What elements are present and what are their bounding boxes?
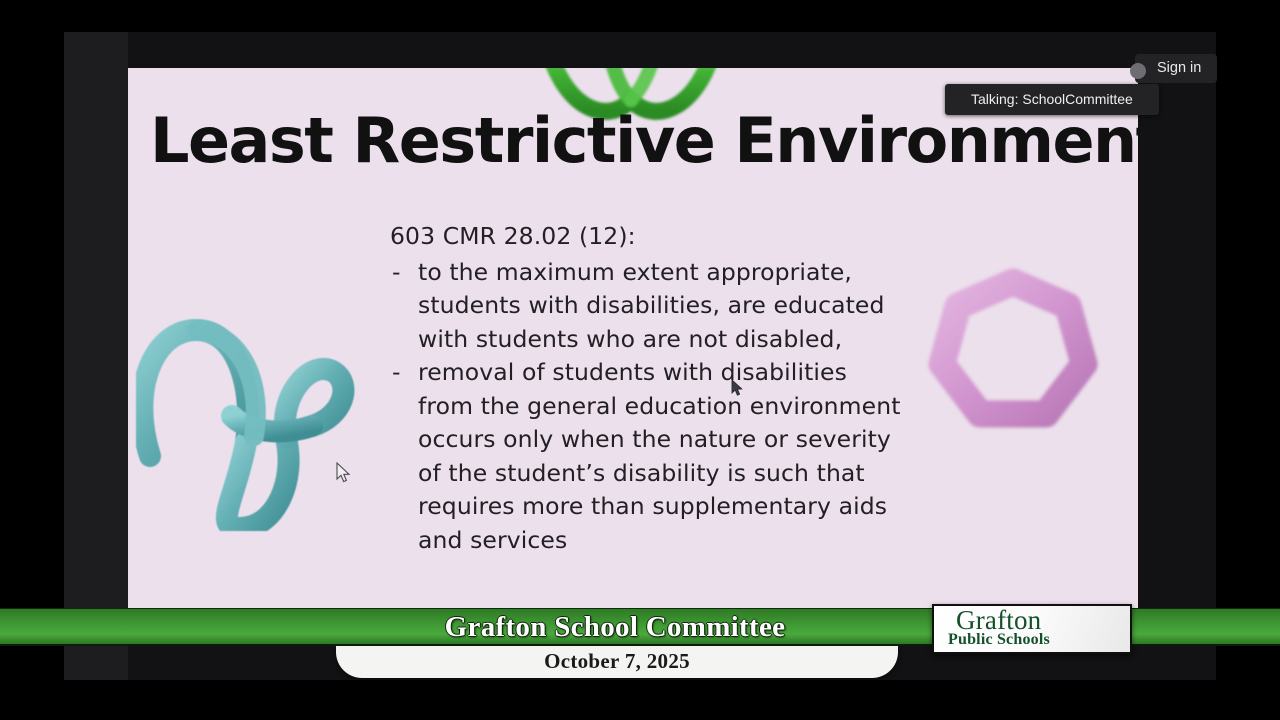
bullet-line: with students who are not disabled, <box>418 325 842 353</box>
bullet-line: occurs only when the nature or severity <box>418 425 891 453</box>
broadcast-date: October 7, 2025 <box>336 649 898 674</box>
slide-body: 603 CMR 28.02 (12): - to the maximum ext… <box>390 220 950 557</box>
teal-knot-graphic <box>136 266 366 531</box>
bullet-item: - removal of students with disabilities … <box>390 356 950 557</box>
logo-main-text: Grafton <box>956 606 1041 634</box>
bullet-line: and services <box>418 526 567 554</box>
bullet-line: students with disabilities, are educated <box>418 291 885 319</box>
bullet-line: requires more than supplementary aids <box>418 492 887 520</box>
user-avatar-icon[interactable] <box>1130 63 1146 79</box>
presentation-slide: Least Restrictive Environment <box>128 68 1138 614</box>
talking-indicator: Talking: SchoolCommittee <box>945 84 1159 115</box>
grafton-public-schools-logo: Grafton Public Schools <box>932 604 1132 654</box>
bullet-line: from the general education environment <box>418 392 901 420</box>
body-heading: 603 CMR 28.02 (12): <box>390 220 950 254</box>
bullet-line: of the student’s disability is such that <box>418 459 865 487</box>
slide-title: Least Restrictive Environment <box>150 110 1120 172</box>
bullet-line: removal of students with disabilities <box>418 358 847 386</box>
bullet-marker: - <box>392 256 401 290</box>
screen-root: Least Restrictive Environment <box>0 0 1280 720</box>
logo-sub-text: Public Schools <box>948 631 1050 649</box>
bullet-line: to the maximum extent appropriate, <box>418 258 852 286</box>
pink-heptagon-ring-graphic <box>928 268 1098 438</box>
bullet-item: - to the maximum extent appropriate, stu… <box>390 256 950 357</box>
bullet-marker: - <box>392 356 401 390</box>
date-band: October 7, 2025 <box>336 644 898 678</box>
sign-in-button[interactable]: Sign in <box>1135 54 1217 83</box>
